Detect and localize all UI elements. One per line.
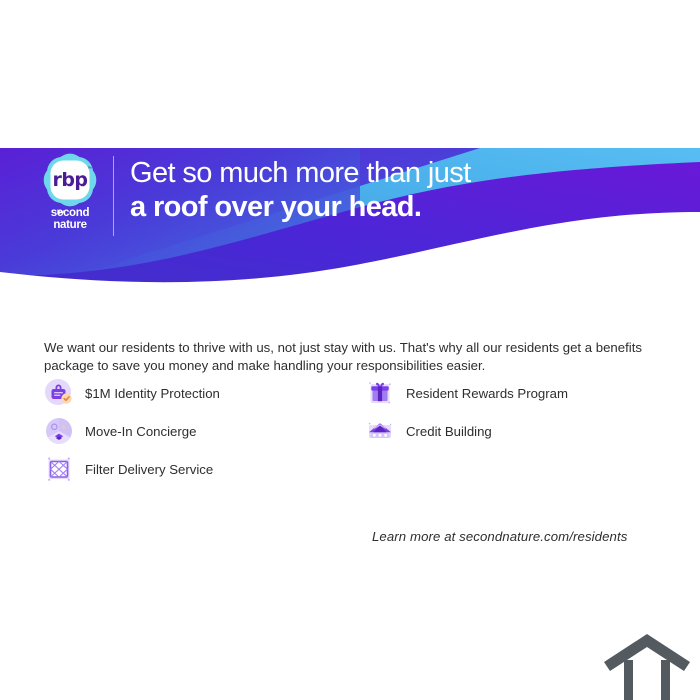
rbp-logo-lockup[interactable]: rbp ™ by second nature: [36, 153, 104, 231]
benefit-label: Move-In Concierge: [85, 424, 196, 439]
trademark-symbol: ™: [87, 166, 92, 172]
learn-more-link[interactable]: Learn more at secondnature.com/residents: [372, 529, 627, 544]
banner-content: rbp ™ by second nature Get so much more …: [0, 148, 700, 300]
hero-banner: rbp ™ by second nature Get so much more …: [0, 148, 700, 300]
identity-protection-icon: [44, 378, 74, 408]
second-nature-subbrand: by second nature: [36, 208, 104, 231]
benefit-label: $1M Identity Protection: [85, 386, 220, 401]
banner-headline: Get so much more than just a roof over y…: [130, 156, 471, 224]
subbrand-line-second: second: [36, 208, 104, 220]
benefit-item-credit-building[interactable]: Credit Building: [365, 412, 568, 450]
resident-rewards-icon: [365, 378, 395, 408]
filter-delivery-icon: [44, 454, 74, 484]
benefit-item-identity-protection[interactable]: $1M Identity Protection: [44, 374, 220, 412]
headline-line-1: Get so much more than just: [130, 156, 471, 190]
headline-line-2: a roof over your head.: [130, 190, 471, 224]
benefit-item-filter-delivery[interactable]: Filter Delivery Service: [44, 450, 220, 488]
subbrand-by-label: by: [57, 210, 64, 216]
benefit-item-move-in-concierge[interactable]: Move-In Concierge: [44, 412, 220, 450]
logo-divider: [113, 156, 114, 236]
benefit-label: Credit Building: [406, 424, 492, 439]
rbp-badge-icon: rbp ™: [43, 153, 97, 207]
benefit-item-resident-rewards[interactable]: Resident Rewards Program: [365, 374, 568, 412]
move-in-concierge-icon: [44, 416, 74, 446]
benefit-label: Filter Delivery Service: [85, 462, 213, 477]
benefits-left-column: $1M Identity Protection Move-In Concierg…: [44, 374, 220, 488]
credit-building-icon: [365, 416, 395, 446]
house-outline-icon: [602, 628, 692, 700]
benefits-right-column: Resident Rewards Program: [365, 374, 568, 450]
benefit-label: Resident Rewards Program: [406, 386, 568, 401]
intro-paragraph: We want our residents to thrive with us,…: [44, 339, 644, 375]
subbrand-line-nature: nature: [36, 220, 104, 232]
rbp-wordmark: rbp: [43, 153, 97, 207]
